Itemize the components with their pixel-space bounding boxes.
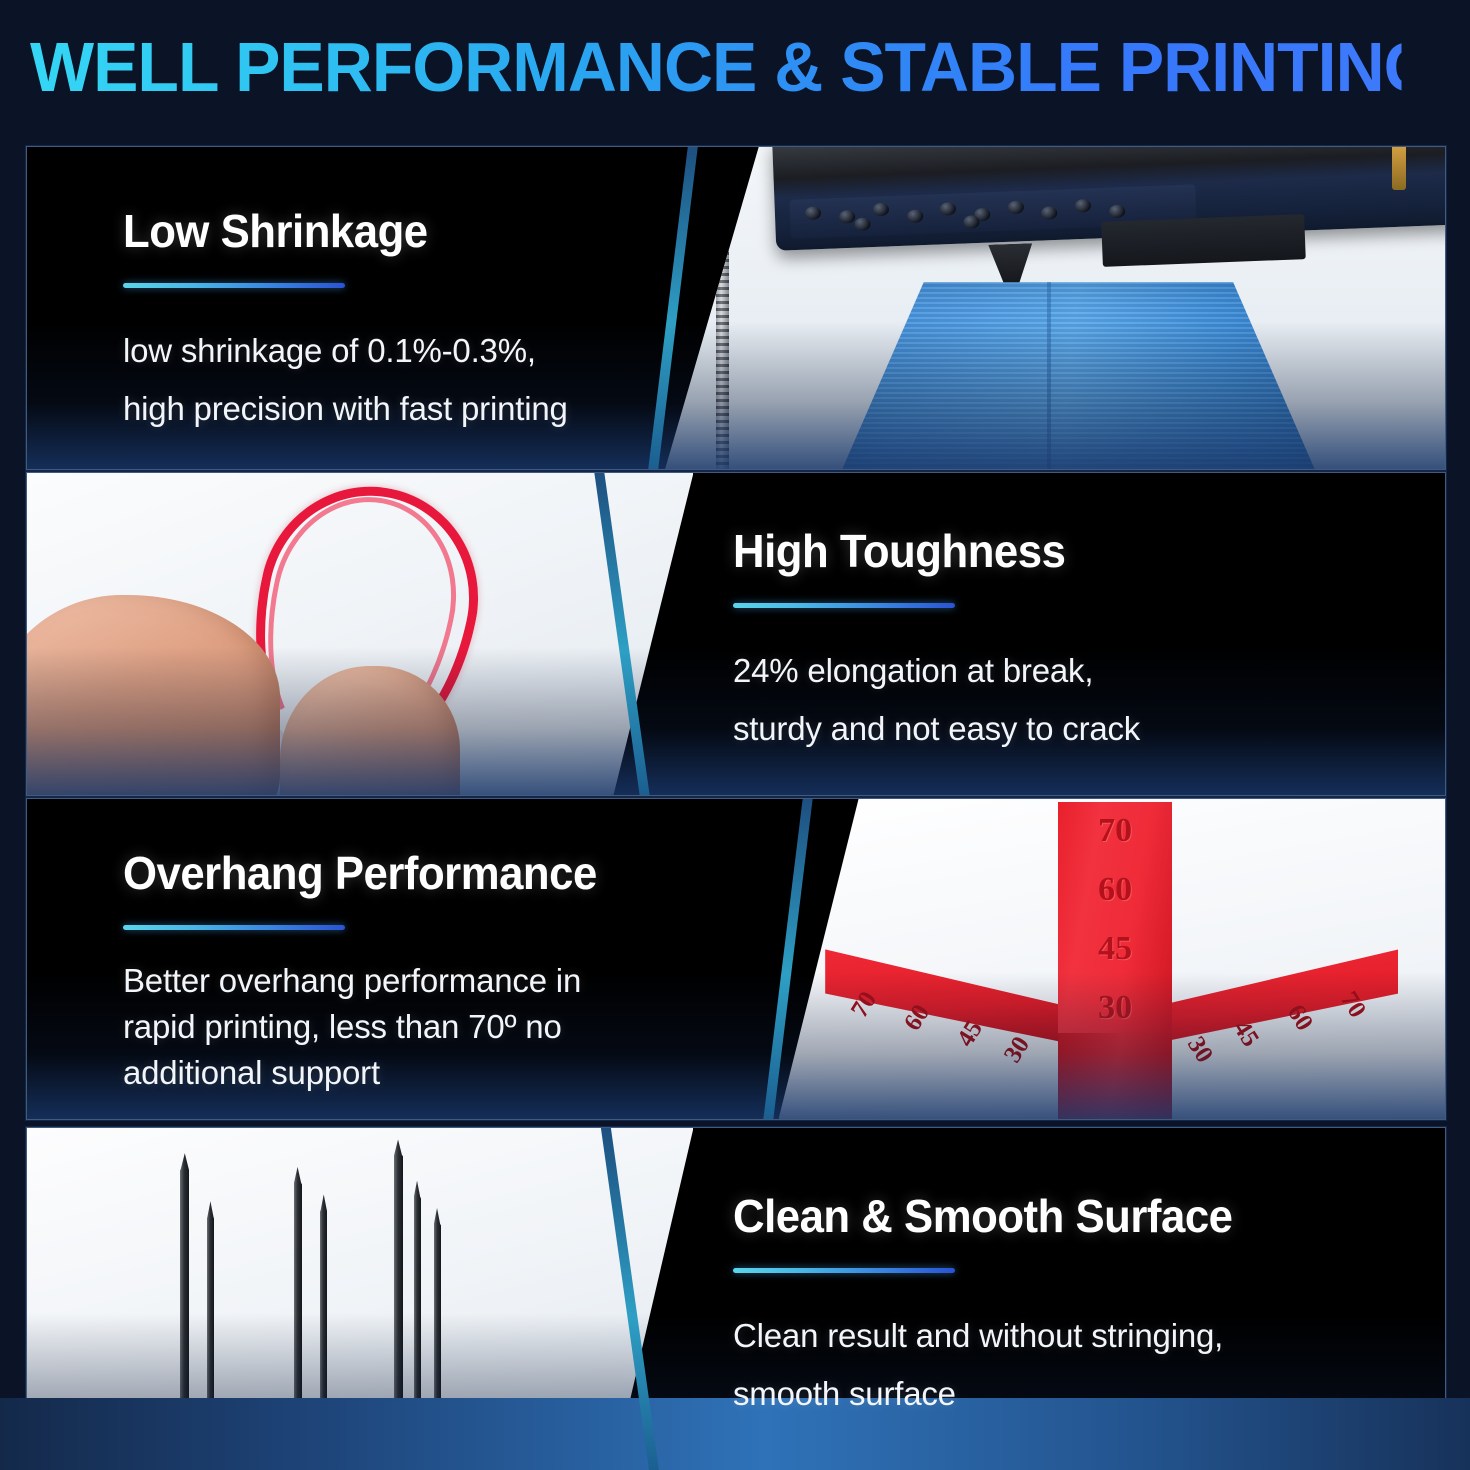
feature-title: High Toughness: [733, 525, 1120, 577]
feature-panel-high-toughness: High Toughness 24% elongation at break, …: [26, 472, 1446, 796]
stringing-spike: [294, 1183, 302, 1416]
print-seam-line: [1047, 282, 1051, 469]
angle-label-70: 70: [1058, 812, 1171, 850]
feature-body-line: smooth surface: [733, 1365, 1259, 1423]
printer-hotend-printing-blue-object-image: [665, 147, 1445, 469]
feature-body: low shrinkage of 0.1%-0.3%, high precisi…: [123, 322, 568, 438]
feature-text-clean-smooth-surface: Clean & Smooth Surface Clean result and …: [733, 1190, 1259, 1423]
feature-title: Overhang Performance: [123, 847, 597, 899]
red-overhang-test-model-image: 70 60 45 30 70 60 45 30 70 60 45 30: [779, 799, 1445, 1119]
feature-text-high-toughness: High Toughness 24% elongation at break, …: [733, 525, 1140, 758]
feature-panel-low-shrinkage: Low Shrinkage low shrinkage of 0.1%-0.3%…: [26, 146, 1446, 470]
feature-body-line: additional support: [123, 1050, 622, 1096]
feature-body-line: rapid printing, less than 70º no: [123, 1004, 622, 1050]
feature-panel-overhang-performance: 70 60 45 30 70 60 45 30 70 60 45 30 Over…: [26, 798, 1446, 1120]
hand-bending-red-filament-loop-image: [27, 473, 693, 795]
stringing-spike: [414, 1197, 421, 1417]
title-underline: [733, 1268, 955, 1273]
page-title: WELL PERFORMANCE & STABLE PRINTING: [30, 26, 1402, 108]
overhang-center-column: 70 60 45 30: [1058, 802, 1171, 1039]
title-underline: [123, 283, 345, 288]
feature-body-line: low shrinkage of 0.1%-0.3%,: [123, 322, 568, 380]
stringing-spike: [434, 1224, 441, 1416]
feature-text-overhang-performance: Overhang Performance Better overhang per…: [123, 847, 622, 1096]
stringing-spike: [394, 1155, 403, 1416]
overhang-model-base: [1058, 1033, 1171, 1119]
feature-body-line: Clean result and without stringing,: [733, 1307, 1259, 1365]
printer-rod: [716, 224, 729, 469]
feature-body: Better overhang performance in rapid pri…: [123, 958, 622, 1096]
brass-fitting: [1392, 147, 1406, 190]
infographic-page: WELL PERFORMANCE & STABLE PRINTING: [0, 0, 1470, 1470]
feature-body: Clean result and without stringing, smoo…: [733, 1307, 1259, 1423]
feature-title: Low Shrinkage: [123, 205, 545, 257]
feature-body-line: Better overhang performance in: [123, 958, 622, 1004]
stringing-spike: [207, 1217, 214, 1416]
feature-body-line: sturdy and not easy to crack: [733, 700, 1140, 758]
feature-body: 24% elongation at break, sturdy and not …: [733, 642, 1140, 758]
angle-label-30: 30: [1058, 989, 1171, 1027]
angle-label-45: 45: [1058, 930, 1171, 968]
printer-sidearm: [1101, 214, 1305, 267]
title-underline: [733, 603, 955, 608]
stringing-spike: [320, 1210, 327, 1416]
stringing-spike: [180, 1169, 189, 1416]
feature-body-line: 24% elongation at break,: [733, 642, 1140, 700]
angle-label-60: 60: [1058, 871, 1171, 909]
feature-body-line: high precision with fast printing: [123, 380, 568, 438]
feature-text-low-shrinkage: Low Shrinkage low shrinkage of 0.1%-0.3%…: [123, 205, 568, 438]
title-underline: [123, 925, 345, 930]
feature-title: Clean & Smooth Surface: [733, 1190, 1232, 1242]
